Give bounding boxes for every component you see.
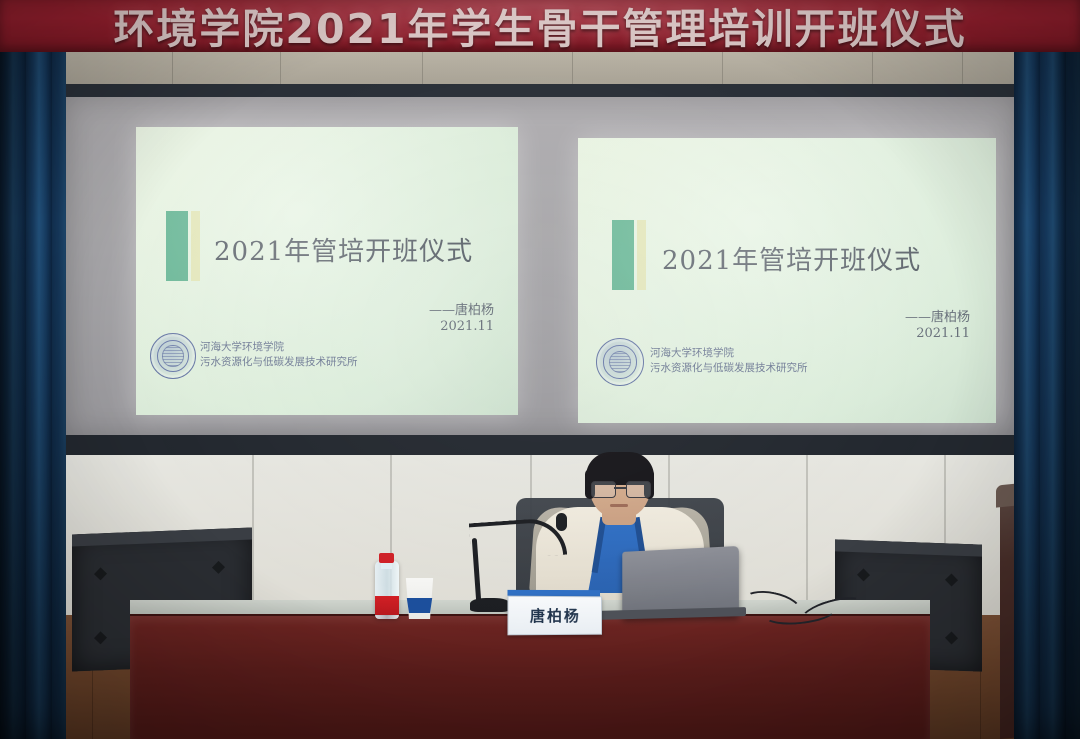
- presenter-mouth: [610, 504, 628, 507]
- university-seal-icon: [596, 338, 644, 386]
- slide-title: 2021年管培开班仪式: [214, 231, 473, 268]
- slide-author: ——唐柏杨: [905, 306, 970, 325]
- nameplate-text: 唐柏杨: [530, 605, 581, 626]
- projection-frame-top: [60, 84, 1020, 97]
- wall-panel-seam: [252, 455, 254, 615]
- paper-cup-band: [404, 598, 435, 613]
- slide-accent-bar: [166, 211, 200, 281]
- slide-accent-bar: [612, 220, 646, 290]
- slide-org-line1: 河海大学环境学院: [200, 340, 358, 355]
- slide-author: ——唐柏杨: [429, 299, 494, 318]
- slide-org-line2: 污水资源化与低碳发展技术研究所: [200, 355, 358, 370]
- slide-title: 2021年管培开班仪式: [662, 240, 921, 277]
- stage-curtain-right: [1014, 0, 1080, 739]
- event-banner-text: 环境学院2021年学生骨干管理培训开班仪式: [113, 0, 966, 52]
- slide-org-line1: 河海大学环境学院: [650, 346, 808, 361]
- projected-slide-right: 2021年管培开班仪式 ——唐柏杨 2021.11 河海大学环境学院 污水资源化…: [578, 138, 996, 423]
- stage-curtain-left: [0, 0, 66, 739]
- projected-slide-left: 2021年管培开班仪式 ——唐柏杨 2021.11 河海大学环境学院 污水资源化…: [136, 127, 518, 415]
- upper-wall-band: [62, 52, 1018, 84]
- water-bottle-cap: [379, 553, 394, 563]
- water-bottle-label: [375, 596, 399, 615]
- slide-org: 河海大学环境学院 污水资源化与低碳发展技术研究所: [200, 340, 358, 370]
- glasses-icon: [591, 481, 649, 496]
- slide-date: 2021.11: [440, 319, 494, 334]
- nameplate: 唐柏杨: [507, 596, 602, 636]
- gooseneck-microphone-icon: [556, 513, 567, 531]
- event-banner: 环境学院2021年学生骨干管理培训开班仪式: [0, 0, 1080, 52]
- slide-org-line2: 污水资源化与低碳发展技术研究所: [650, 361, 808, 376]
- university-seal-icon: [150, 333, 196, 379]
- microphone-base: [470, 598, 510, 612]
- wall-panel-seam: [806, 455, 808, 615]
- projection-frame-bottom: [56, 435, 1026, 455]
- auditorium-photo: 2021年管培开班仪式 ——唐柏杨 2021.11 河海大学环境学院 污水资源化…: [0, 0, 1080, 739]
- slide-org: 河海大学环境学院 污水资源化与低碳发展技术研究所: [650, 346, 808, 376]
- slide-date: 2021.11: [916, 326, 970, 341]
